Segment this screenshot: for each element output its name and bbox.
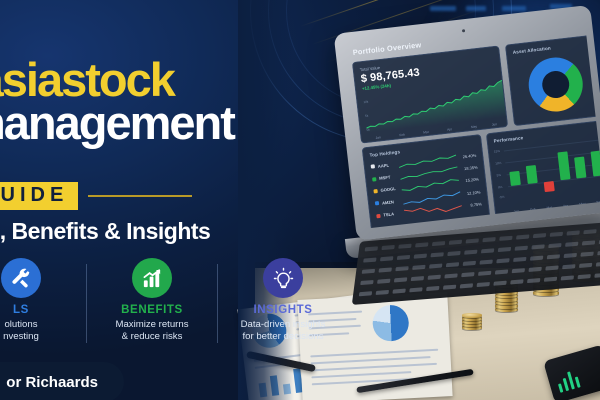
holding-color-swatch xyxy=(373,189,377,193)
keyboard-key xyxy=(381,245,394,250)
keyboard-key xyxy=(548,243,561,248)
keyboard-key xyxy=(510,279,523,284)
holding-weight: 15.20% xyxy=(462,177,479,184)
performance-bar xyxy=(509,171,521,186)
lightbulb-icon xyxy=(263,258,303,298)
performance-bar-chart xyxy=(504,133,600,200)
axis-tick-x: Mar xyxy=(546,205,552,210)
keyboard-key xyxy=(478,271,491,276)
keyboard-key xyxy=(477,282,490,287)
axis-tick-y: 5% xyxy=(496,173,501,177)
axis-tick-y: -5% xyxy=(499,195,505,200)
keyboard-key xyxy=(377,279,390,284)
keyboard-key xyxy=(430,252,443,257)
holding-color-swatch xyxy=(371,164,375,168)
keyboard-key xyxy=(579,263,592,268)
holding-ticker: AAPL xyxy=(378,162,396,169)
axis-tick-x: Feb xyxy=(530,207,536,212)
keyboard-key xyxy=(460,283,473,288)
keyboard-key xyxy=(379,267,392,272)
keyboard-key xyxy=(412,265,425,270)
feature-name: BENEFITS xyxy=(94,304,210,316)
keyboard-key xyxy=(479,260,492,265)
guide-badge: GUIDE xyxy=(0,182,78,210)
keyboard-key xyxy=(446,262,459,267)
keyboard-key xyxy=(498,247,511,252)
keyboard-key xyxy=(561,275,574,280)
feature-description: Maximize returns& reduce risks xyxy=(94,319,210,343)
keyboard-key xyxy=(426,286,439,291)
keyboard-key xyxy=(562,264,575,269)
holding-color-swatch xyxy=(375,201,379,205)
keyboard-key xyxy=(527,278,540,283)
keyboard-key xyxy=(380,256,393,261)
keyboard-key xyxy=(496,258,509,263)
top-holdings-list: AAPL26.40%MSFT18.35%GOOGL15.20%AMZN12.10… xyxy=(370,149,482,223)
feature-insights[interactable]: INSIGHTSData-driven insightsfor better d… xyxy=(218,258,348,343)
feature-list: LSolutionsnvestingBENEFITSMaximize retur… xyxy=(0,258,348,343)
holding-weight: 8.75% xyxy=(465,202,482,209)
keyboard-key xyxy=(580,252,593,257)
keyboard-key xyxy=(411,276,424,281)
axis-tick-x: Feb xyxy=(399,132,405,137)
keyboard-key xyxy=(583,229,596,234)
axis-tick-x: Apr xyxy=(563,204,568,209)
axis-tick-y: 10% xyxy=(495,161,501,166)
performance-card[interactable]: Performance 15% 10% 5% 0% -5% JanFebMarA… xyxy=(486,120,600,219)
keyboard-key xyxy=(444,273,457,278)
keyboard-key xyxy=(545,265,558,270)
axis-tick-x: Jan xyxy=(514,209,520,214)
keyboard-key xyxy=(550,232,563,237)
keyboard-key xyxy=(392,289,405,294)
hero-subtitle: ols, Benefits & Insights xyxy=(0,218,210,245)
keyboard-key xyxy=(443,285,456,290)
keyboard-key xyxy=(596,261,600,267)
keyboard-key xyxy=(544,277,557,282)
keyboard-key xyxy=(464,250,477,255)
holding-ticker: AMZN xyxy=(382,198,400,205)
performance-bar xyxy=(525,165,537,184)
keyboard-key xyxy=(531,244,544,249)
keyboard-key xyxy=(495,269,508,274)
keyboard-key xyxy=(565,242,578,247)
feature-description: Data-driven insightsfor better decisions xyxy=(225,319,341,343)
axis-tick-y: 15% xyxy=(494,149,500,154)
keyboard-key xyxy=(499,236,512,241)
holding-weight: 26.40% xyxy=(459,152,476,159)
coin xyxy=(462,313,482,318)
hero-title-line1: tasiastock xyxy=(0,58,384,101)
axis-tick-x: Jun xyxy=(596,200,600,205)
keyboard-key xyxy=(397,255,410,260)
keyboard-key xyxy=(415,242,428,247)
top-holdings-card[interactable]: Top Holdings AAPL26.40%MSFT18.35%GOOGL15… xyxy=(362,134,491,229)
keyboard-key xyxy=(466,238,479,243)
author-name: or Richaards xyxy=(6,374,98,391)
asset-allocation-donut xyxy=(526,55,586,115)
keyboard-key xyxy=(359,291,372,296)
feature-tools[interactable]: LSolutionsnvesting xyxy=(0,258,86,343)
keyboard-key xyxy=(365,246,378,251)
keyboard-key xyxy=(481,248,494,253)
keyboard-key xyxy=(398,244,411,249)
keyboard-key xyxy=(432,241,445,246)
hero-title: tasiastock management xyxy=(0,58,384,146)
bar-chart-growth-icon xyxy=(132,258,172,298)
keyboard-key xyxy=(376,290,389,295)
holding-ticker: MSFT xyxy=(379,174,397,181)
keyboard-key xyxy=(528,267,541,272)
performance-bar xyxy=(574,156,586,178)
keyboard-key xyxy=(414,254,427,259)
holding-ticker: GOOGL xyxy=(380,186,398,193)
guide-badge-row: GUIDE xyxy=(0,182,192,210)
keyboard-key xyxy=(530,256,543,261)
hero-title-line2: management xyxy=(0,101,384,146)
holding-weight: 12.10% xyxy=(463,189,480,196)
keyboard-key xyxy=(428,275,441,280)
holding-color-swatch xyxy=(376,214,380,218)
feature-description: olutionsnvesting xyxy=(0,319,79,343)
axis-tick-x: May xyxy=(579,202,585,207)
keyboard-key xyxy=(512,268,525,273)
keyboard-key xyxy=(482,237,495,242)
keyboard-key xyxy=(516,234,529,239)
keyboard-key xyxy=(513,257,526,262)
axis-tick-x: Jun xyxy=(492,122,498,127)
holding-weight: 18.35% xyxy=(460,165,477,172)
holding-ticker: TSLA xyxy=(383,211,401,218)
keyboard-key xyxy=(582,240,595,245)
asset-allocation-header: Asset Allocation xyxy=(513,41,591,55)
keyboard-key xyxy=(515,246,528,251)
feature-name: INSIGHTS xyxy=(225,304,341,316)
keyboard-key xyxy=(449,240,462,245)
keyboard-key xyxy=(463,261,476,266)
keyboard-key xyxy=(493,281,506,286)
keyboard-key xyxy=(360,280,373,285)
axis-tick-x: Mar xyxy=(423,129,429,134)
asset-allocation-card[interactable]: Asset Allocation xyxy=(505,34,600,126)
poster-canvas: Portfolio Overview Total Value $ 98,765.… xyxy=(0,0,600,400)
keyboard-key xyxy=(594,272,600,278)
keyboard-key xyxy=(362,269,375,274)
keyboard-key xyxy=(394,277,407,282)
axis-tick-x: May xyxy=(471,124,477,129)
keyboard-key xyxy=(447,251,460,256)
axis-tick-x: Apr xyxy=(447,127,452,132)
keyboard-key xyxy=(566,230,579,235)
keyboard-key xyxy=(395,266,408,271)
keyboard-key xyxy=(533,233,546,238)
holding-color-swatch xyxy=(372,177,376,181)
keyboard-key xyxy=(564,253,577,258)
keyboard-key xyxy=(409,287,422,292)
axis-tick-y: 0% xyxy=(498,185,503,189)
keyboard-key xyxy=(577,274,590,279)
feature-name: LS xyxy=(0,304,79,316)
laptop: Portfolio Overview Total Value $ 98,765.… xyxy=(334,4,600,303)
performance-bar xyxy=(544,181,555,192)
guide-divider-line xyxy=(88,195,192,197)
feature-benefits[interactable]: BENEFITSMaximize returns& reduce risks xyxy=(87,258,217,343)
keyboard-key xyxy=(461,272,474,277)
keyboard-key xyxy=(363,258,376,263)
wrench-icon xyxy=(1,258,41,298)
author-banner: or Richaards xyxy=(0,362,124,400)
keyboard-key xyxy=(547,254,560,259)
performance-bar xyxy=(557,151,570,180)
keyboard-key xyxy=(429,263,442,268)
performance-bar xyxy=(590,150,600,176)
